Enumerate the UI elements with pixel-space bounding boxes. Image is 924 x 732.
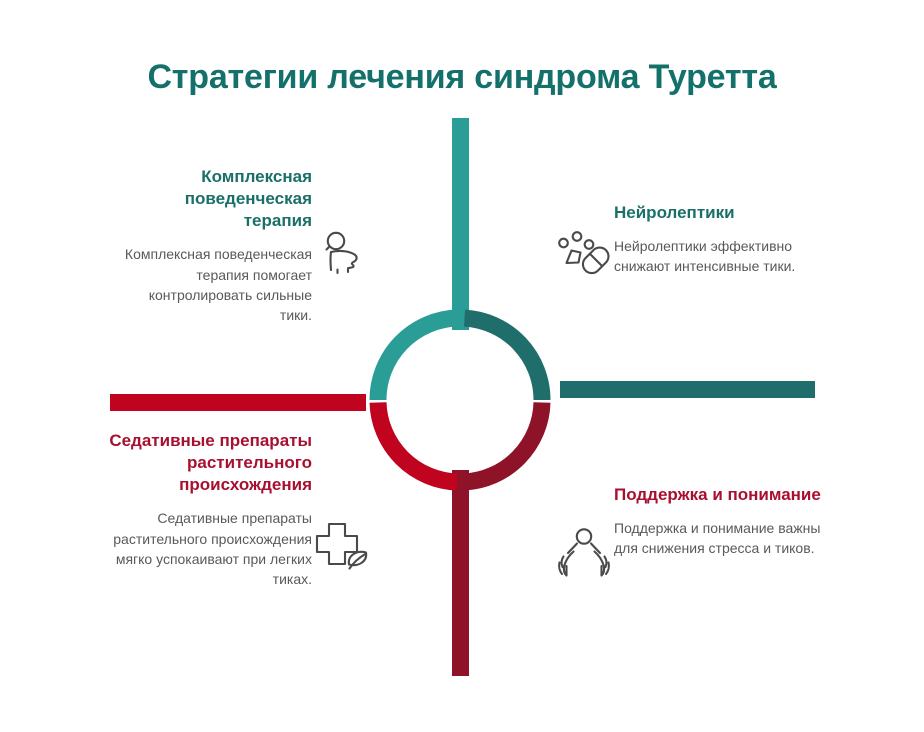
block-neuroleptics-body: Нейролептики эффективно снижают интенсив… [614,236,814,277]
block-behavioral: Комплексная поведенческая терапия Компле… [120,166,312,325]
ring-arc-neuroleptics [465,318,543,400]
block-support: Поддержка и понимание Поддержка и понима… [614,484,829,559]
block-support-heading: Поддержка и понимание [614,484,829,506]
spoke-right-connector [560,381,815,398]
ring-arc-herbal [378,403,457,483]
block-herbal-body: Седативные препараты растительного проис… [105,508,312,589]
block-neuroleptics: Нейролептики Нейролептики эффективно сни… [614,202,814,277]
block-behavioral-body: Комплексная поведенческая терапия помога… [120,244,312,325]
block-support-body: Поддержка и понимание важны для снижения… [614,518,829,559]
block-neuroleptics-heading: Нейролептики [614,202,814,224]
infographic-canvas: Стратегии лечения синдрома Туретта [0,0,924,732]
block-herbal-heading: Седативные препараты растительного проис… [105,430,312,496]
radial-diagram [0,0,924,732]
support-hands-icon [556,526,612,587]
spoke-bottom-connector [452,470,469,676]
ring-arc-support [465,403,542,483]
block-behavioral-heading: Комплексная поведенческая терапия [120,166,312,232]
spoke-top-connector [452,118,469,330]
pills-icon [553,226,611,289]
person-thinking-icon [316,226,372,287]
spoke-left-connector [110,394,366,411]
herbal-cross-icon [311,521,375,580]
ring-arc-behavioral [378,318,457,400]
block-herbal: Седативные препараты растительного проис… [105,430,312,589]
